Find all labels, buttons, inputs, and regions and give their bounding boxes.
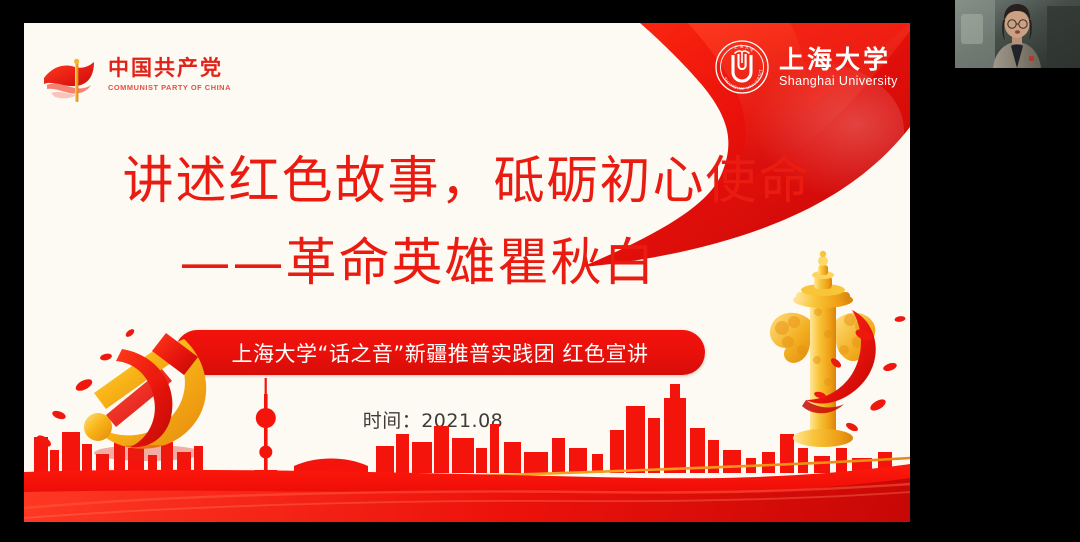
- organization-banner-text: 上海大学“话之音”新疆推普实践团 红色宣讲: [232, 338, 649, 368]
- screen-root: 中国共产党 COMMUNIST PARTY OF CHINA 上 海 大 学: [0, 0, 1080, 542]
- slide-title: 讲述红色故事，砥砺初心使命: [24, 151, 910, 213]
- slide-date: 时间：2021.08: [24, 406, 910, 433]
- shanghai-university-logo: 上 海 大 学 SHANGHAI UNIVERSITY 上海大学 Shangha…: [714, 31, 894, 103]
- cpc-logo-en: COMMUNIST PARTY OF CHINA: [108, 82, 248, 93]
- svg-text:海: 海: [740, 43, 744, 48]
- presenter-video-thumbnail[interactable]: [955, 0, 1080, 68]
- organization-banner: 上海大学“话之音”新疆推普实践团 红色宣讲: [175, 330, 705, 375]
- university-logo-cn: 上海大学: [779, 46, 898, 73]
- slide-subtitle: ——革命英雄瞿秋白: [24, 233, 910, 295]
- cpc-logo-cn: 中国共产党: [108, 56, 248, 80]
- cpc-logo: 中国共产党 COMMUNIST PARTY OF CHINA: [42, 54, 252, 108]
- svg-text:学: 学: [750, 47, 754, 52]
- presentation-slide: 中国共产党 COMMUNIST PARTY OF CHINA 上 海 大 学: [24, 23, 910, 522]
- shanghai-university-seal-icon: 上 海 大 学 SHANGHAI UNIVERSITY: [714, 39, 770, 95]
- svg-text:上: 上: [734, 45, 738, 50]
- red-flag-icon: [42, 58, 104, 106]
- university-logo-en: Shanghai University: [779, 74, 898, 89]
- svg-text:大: 大: [745, 45, 749, 50]
